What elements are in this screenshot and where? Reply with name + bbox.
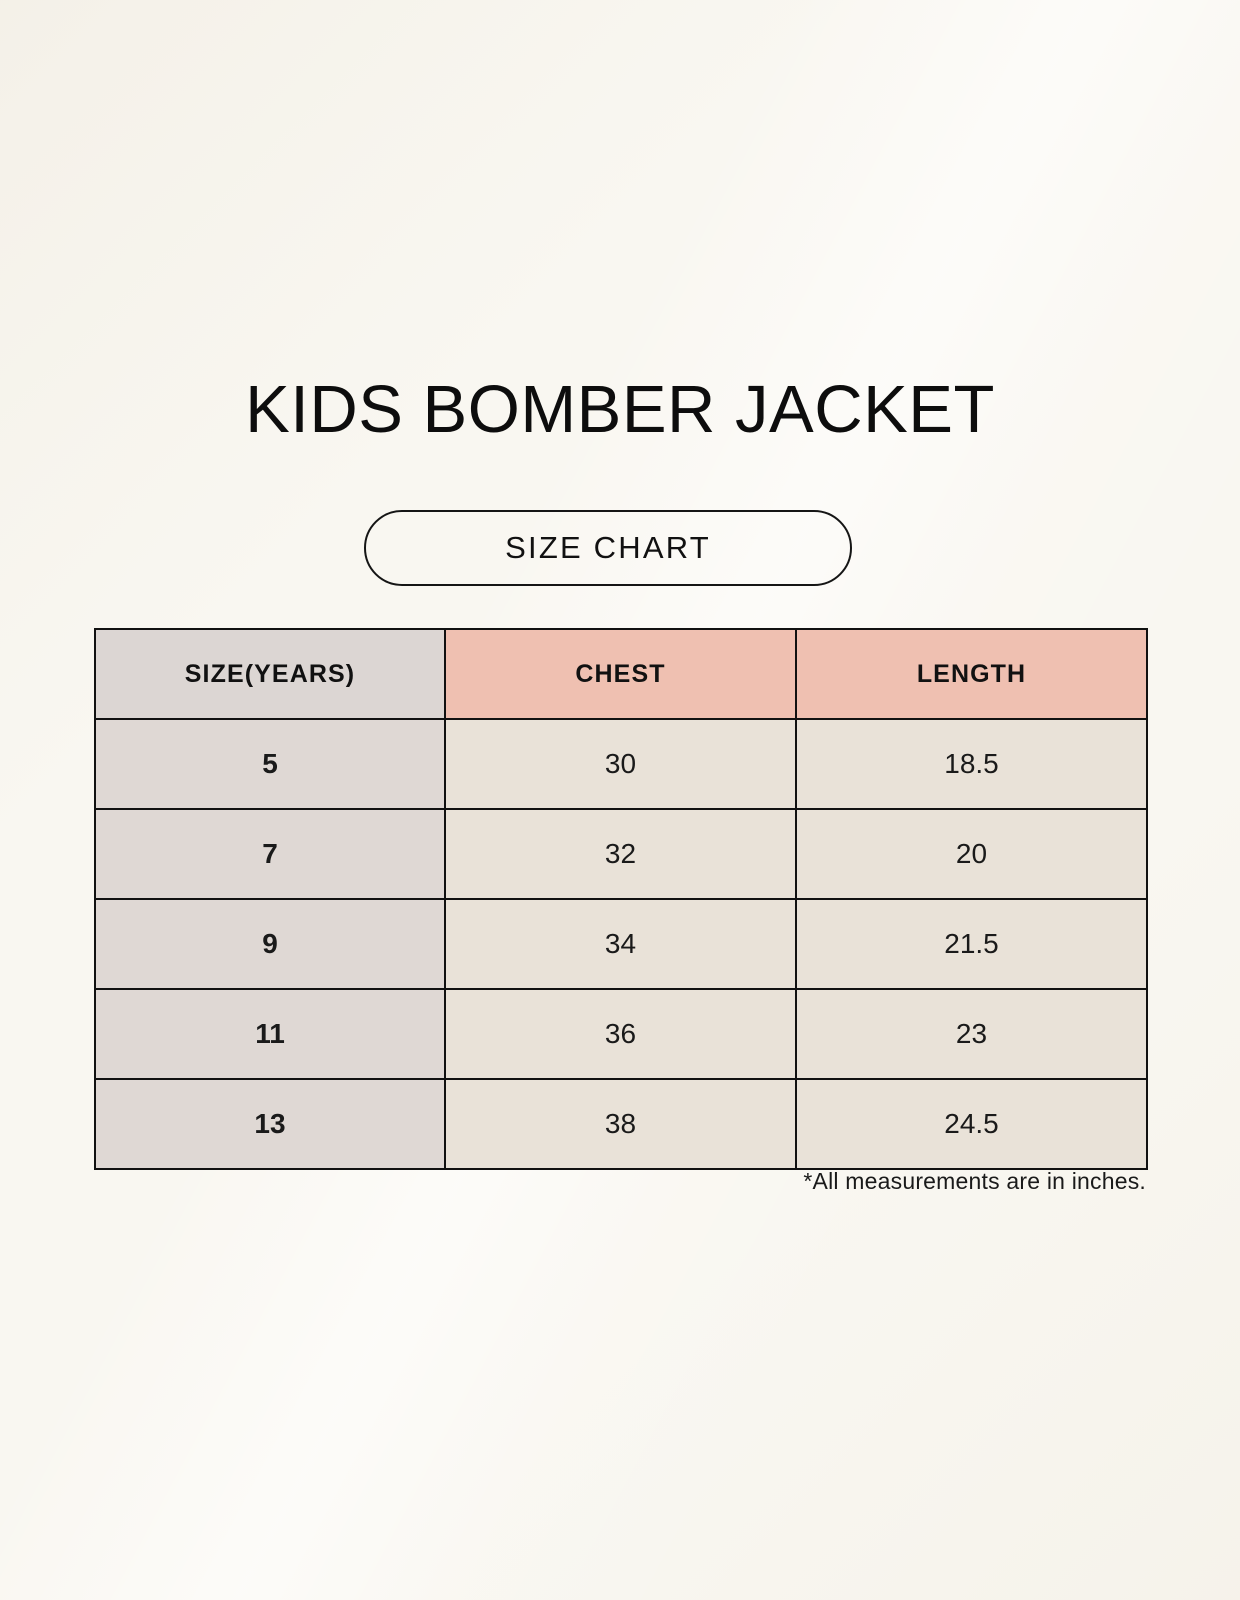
cell-length: 21.5 <box>796 899 1147 989</box>
size-chart-badge: SIZE CHART <box>364 510 852 586</box>
cell-length: 20 <box>796 809 1147 899</box>
size-chart-page: KIDS BOMBER JACKET SIZE CHART SIZE(YEARS… <box>0 0 1240 1600</box>
cell-chest: 36 <box>445 989 796 1079</box>
size-chart-badge-label: SIZE CHART <box>505 530 711 566</box>
column-header-length: LENGTH <box>796 629 1147 719</box>
cell-length: 18.5 <box>796 719 1147 809</box>
measurement-units-note: *All measurements are in inches. <box>803 1168 1146 1195</box>
table-header-row: SIZE(YEARS) CHEST LENGTH <box>95 629 1147 719</box>
cell-size: 9 <box>95 899 445 989</box>
cell-size: 13 <box>95 1079 445 1169</box>
table-row: 11 36 23 <box>95 989 1147 1079</box>
table-row: 9 34 21.5 <box>95 899 1147 989</box>
cell-chest: 32 <box>445 809 796 899</box>
cell-length: 23 <box>796 989 1147 1079</box>
table-row: 5 30 18.5 <box>95 719 1147 809</box>
cell-size: 5 <box>95 719 445 809</box>
cell-size: 11 <box>95 989 445 1079</box>
table-row: 7 32 20 <box>95 809 1147 899</box>
table-row: 13 38 24.5 <box>95 1079 1147 1169</box>
size-chart-table: SIZE(YEARS) CHEST LENGTH 5 30 18.5 7 32 … <box>94 628 1148 1170</box>
cell-length: 24.5 <box>796 1079 1147 1169</box>
column-header-size: SIZE(YEARS) <box>95 629 445 719</box>
cell-chest: 30 <box>445 719 796 809</box>
cell-size: 7 <box>95 809 445 899</box>
cell-chest: 38 <box>445 1079 796 1169</box>
page-title: KIDS BOMBER JACKET <box>0 374 1240 446</box>
cell-chest: 34 <box>445 899 796 989</box>
column-header-chest: CHEST <box>445 629 796 719</box>
